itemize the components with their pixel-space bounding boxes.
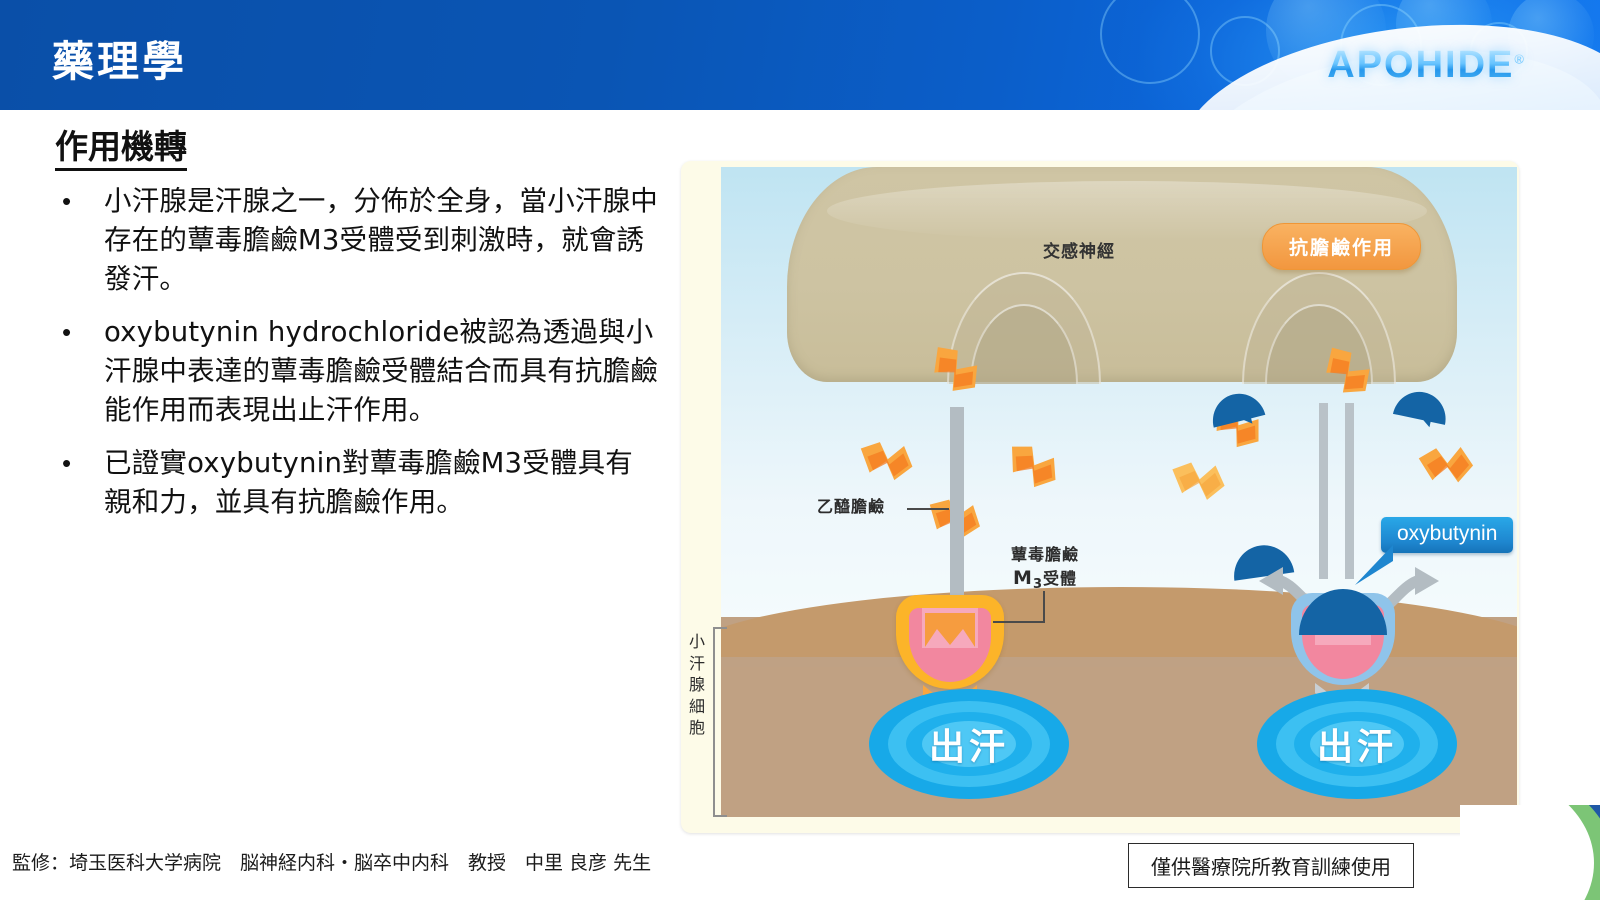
acetylcholine-label: 乙醯膽鹼 <box>817 497 885 518</box>
acetylcholine-flow-arrow <box>950 407 964 599</box>
bullet-marker-icon: • <box>48 313 104 430</box>
acetylcholine-icon <box>1004 441 1065 494</box>
gland-label-char: 胞 <box>687 717 707 739</box>
sweat-output-left: 出汗 <box>869 685 1069 803</box>
oxybutynin-label: oxybutynin <box>1381 517 1513 553</box>
m3-receptor-blocked <box>1289 577 1397 689</box>
diagram-canvas: 交感神經 抗膽鹼作用 <box>721 167 1517 817</box>
acetylcholine-leader-line <box>907 508 949 510</box>
mechanism-diagram-panel: 交感神經 抗膽鹼作用 <box>681 161 1519 833</box>
m3-receptor-label-m: M <box>1013 567 1033 589</box>
page-number: 18 <box>1555 850 1582 878</box>
gland-cell-label: 小 汗 腺 細 胞 <box>687 631 707 739</box>
bullet-text: 已證實oxybutynin對蕈毒膽鹼M3受體具有親和力，並具有抗膽鹼作用。 <box>104 444 658 522</box>
m3-receptor-active <box>896 595 1004 689</box>
anticholinergic-badge: 抗膽鹼作用 <box>1262 223 1421 270</box>
m3-receptor-label-sub: 3 <box>1033 577 1043 592</box>
m3-receptor-label-line1: 蕈毒膽鹼 <box>1011 545 1079 564</box>
m3-receptor-leader-horizontal <box>993 621 1045 623</box>
gland-label-char: 細 <box>687 696 707 718</box>
sweat-label-right: 出汗 <box>1317 718 1397 770</box>
list-item: • 已證實oxybutynin對蕈毒膽鹼M3受體具有親和力，並具有抗膽鹼作用。 <box>48 444 658 522</box>
nerve-label: 交感神經 <box>1043 237 1115 262</box>
acetylcholine-icon <box>858 435 918 486</box>
m3-receptor-leader-vertical <box>1043 591 1045 623</box>
gland-label-char: 汗 <box>687 653 707 675</box>
bullet-list: • 小汗腺是汗腺之一，分佈於全身，當小汗腺中存在的蕈毒膽鹼M3受體受到刺激時，就… <box>48 182 658 536</box>
sympathetic-nerve-body: 交感神經 <box>787 167 1457 382</box>
gland-cell-bracket <box>713 627 727 817</box>
section-heading: 作用機轉 <box>55 128 187 171</box>
bullet-marker-icon: • <box>48 182 104 299</box>
oxybutynin-callout-tail <box>1321 541 1393 589</box>
gland-label-char: 腺 <box>687 674 707 696</box>
apohide-logo: APOHIDE® <box>1327 44 1526 87</box>
bullet-text: oxybutynin hydrochloride被認為透過與小汗腺中表達的蕈毒膽… <box>104 313 658 430</box>
gland-label-char: 小 <box>687 631 707 653</box>
header-divider <box>0 110 1600 113</box>
usage-restriction-note: 僅供醫療院所教育訓練使用 <box>1128 843 1414 888</box>
slide-header: 藥理學 APOHIDE® <box>0 0 1600 110</box>
oxybutynin-molecule-icon <box>1389 377 1455 432</box>
registered-mark-icon: ® <box>1514 51 1526 66</box>
acetylcholine-icon <box>1170 455 1231 508</box>
m3-receptor-label: 蕈毒膽鹼 M3受體 <box>1011 545 1079 594</box>
list-item: • 小汗腺是汗腺之一，分佈於全身，當小汗腺中存在的蕈毒膽鹼M3受體受到刺激時，就… <box>48 182 658 299</box>
bound-acetylcholine-icon <box>923 611 977 655</box>
page-title: 藥理學 <box>52 28 187 89</box>
list-item: • oxybutynin hydrochloride被認為透過與小汗腺中表達的蕈… <box>48 313 658 430</box>
sweat-output-right: 出汗 <box>1257 685 1457 803</box>
supervisor-credit: 監修：埼玉医科大学病院 脳神経内科・脳卒中内科 教授 中里 良彦 先生 <box>12 848 651 875</box>
acetylcholine-icon <box>1415 435 1481 495</box>
logo-text: APOHIDE <box>1327 44 1514 86</box>
m3-receptor-label-line2b: 受體 <box>1043 569 1077 588</box>
bullet-text: 小汗腺是汗腺之一，分佈於全身，當小汗腺中存在的蕈毒膽鹼M3受體受到刺激時，就會誘… <box>104 182 658 299</box>
bullet-marker-icon: • <box>48 444 104 522</box>
sweat-label-left: 出汗 <box>929 718 1009 770</box>
